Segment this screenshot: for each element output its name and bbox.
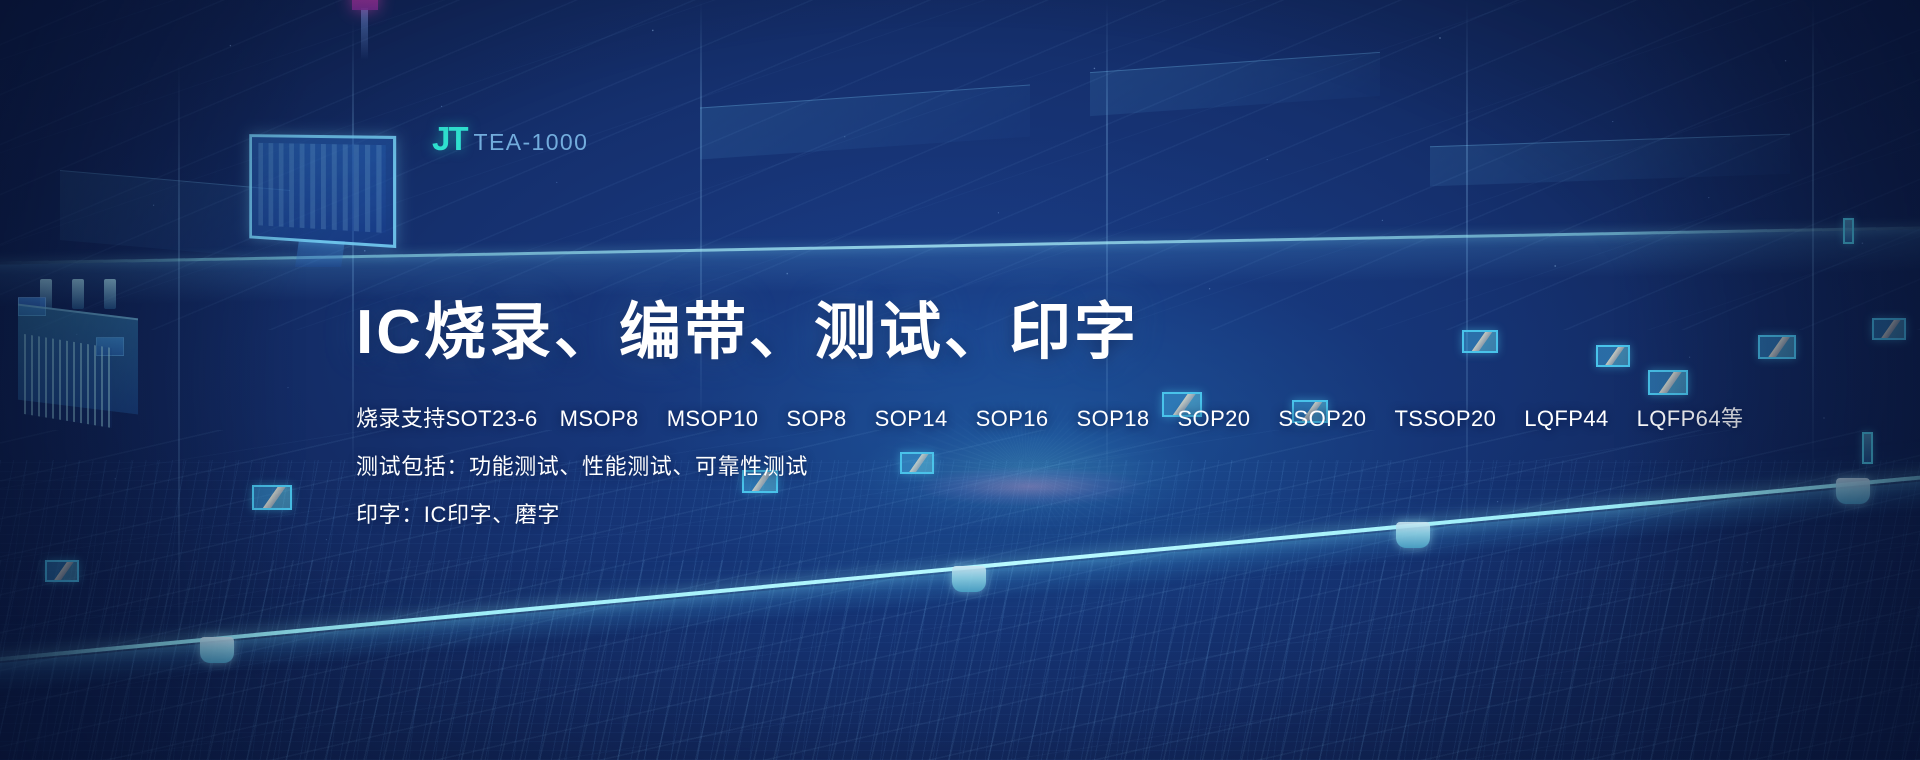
support-strut [1812,0,1814,480]
support-strut [352,20,354,490]
rail-clamp [200,637,234,663]
machine-tube [104,279,116,309]
control-monitor [245,135,395,243]
package-type: LQFP44 [1524,406,1608,432]
machine-tube [72,279,84,309]
ceiling-beam-slab [0,226,1920,307]
ic-chip-icon [1758,335,1796,359]
monitor-frame [249,134,396,248]
burn-support-lead: 烧录支持SOT23-6 [356,401,538,433]
marking-scope-line: 印字：IC印字、磨字 [356,497,1616,529]
machine-body [18,304,138,415]
wall-panel [60,170,290,260]
banner-headline: IC烧录、编带、测试、印字 [356,300,1616,367]
package-type: SOP14 [875,406,948,432]
ic-chip-icon [45,560,79,582]
monitor-screen [258,143,385,233]
light-streaks-upper [0,0,1920,330]
rail-clamp [1836,478,1870,504]
package-type: MSOP10 [667,406,759,432]
package-type: SOP8 [786,406,846,432]
overhead-pole [361,8,368,60]
hero-banner: JT TEA-1000 IC烧录、编带、测试、印字 烧录支持SOT23-6 MS… [0,0,1920,760]
package-type: LQFP64等 [1637,401,1744,433]
ceiling-panel [700,84,1030,159]
package-type: SOP20 [1177,406,1250,432]
package-type: MSOP8 [560,406,639,432]
machine-brand-logo: JT TEA-1000 [432,120,588,158]
ic-chip-icon [1872,318,1906,340]
machine-control-box [96,337,124,356]
machine-control-box [18,297,46,316]
support-strut [178,60,180,660]
ic-chip-icon-vertical [1843,218,1854,244]
package-type: SSOP20 [1278,406,1366,432]
ceiling-panel [1430,134,1790,187]
machine-fins [24,334,112,428]
perspective-floor-grid-overlay [0,560,1920,760]
jt-logo-mark: JT [432,120,467,158]
test-scope-line: 测试包括：功能测试、性能测试、可靠性测试 [356,449,1616,481]
industrial-machine [10,275,160,455]
monitor-stand [295,241,345,267]
burn-support-line: 烧录支持SOT23-6 MSOP8 MSOP10 SOP8 SOP14 SOP1… [356,401,1616,433]
machine-model-label: TEA-1000 [474,129,589,156]
package-type: SOP18 [1077,406,1150,432]
package-type: TSSOP20 [1394,406,1496,432]
ic-chip-icon [252,485,292,510]
ceiling-panel [1090,52,1380,116]
magenta-light-fixture [352,0,378,10]
banner-content: IC烧录、编带、测试、印字 烧录支持SOT23-6 MSOP8 MSOP10 S… [356,300,1616,529]
rail-clamp [952,566,986,592]
machine-tube [40,279,52,309]
package-type: SOP16 [976,406,1049,432]
ic-chip-icon-vertical [1862,432,1873,464]
ceiling-beam [0,223,1920,265]
ic-chip-icon [1648,370,1688,395]
